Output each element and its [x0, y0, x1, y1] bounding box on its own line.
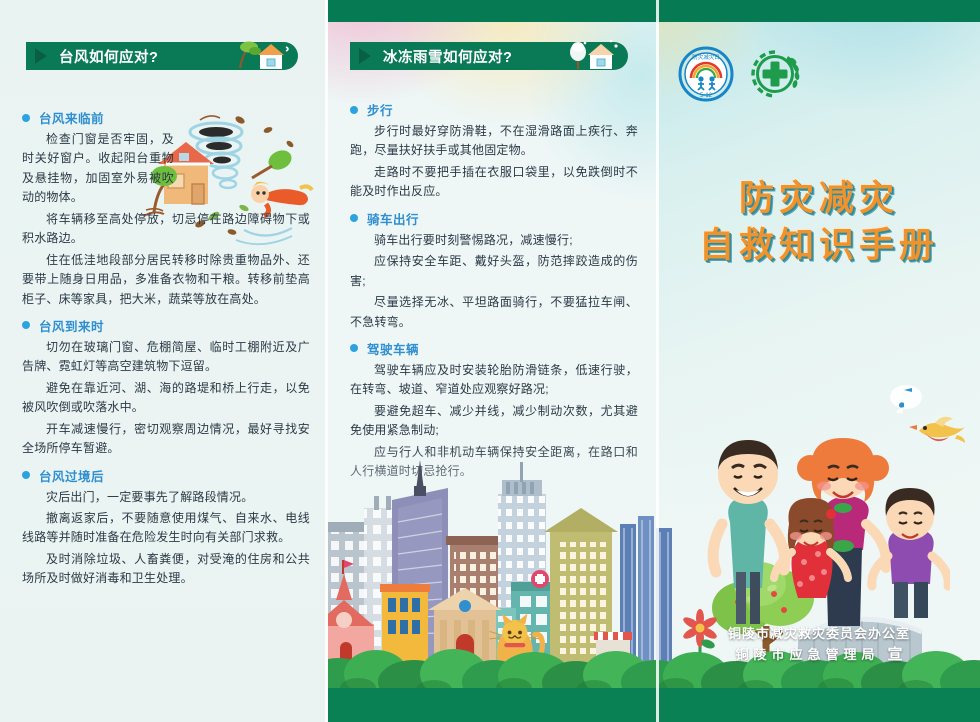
left-section-ribbon: 台风如何应对?	[26, 42, 298, 70]
bullet-dot-icon	[22, 321, 30, 329]
credit-line-2: 铜陵市应急管理局	[735, 647, 879, 662]
middle-section-0: 步行 步行时最好穿防滑鞋，不在湿滑路面上疾行、奔跑，尽量扶好扶手或其他固定物。 …	[350, 100, 638, 202]
ribbon-arrow-icon	[35, 48, 47, 64]
left-section-0: 台风来临前 检查门窗是否牢固，及时关好窗户。收起阳台重物及悬挂物，加固室外易被吹…	[22, 108, 310, 309]
logo-group: 5·12 防灾减灾日	[678, 46, 818, 102]
left-section-0-para-1: 将车辆移至高处停放，切忌停在路边障碍物下或积水路边。	[22, 210, 310, 249]
left-section-0-heading: 台风来临前	[39, 108, 104, 127]
bullet-dot-icon	[350, 106, 358, 114]
middle-section-ribbon: 冰冻雨雪如何应对?	[350, 42, 628, 70]
left-section-2-para-1: 撤离返家后，不要随意使用煤气、自来水、电线线路等并随时准备在危险发生时向有关部门…	[22, 509, 310, 548]
left-section-1-heading-row: 台风到来时	[22, 316, 310, 335]
music-note-bubble-icon	[888, 382, 924, 416]
credit-suffix: 宣	[888, 646, 903, 663]
svg-text:5·12: 5·12	[700, 93, 713, 99]
middle-section-0-para-1: 走路时不要把手插在衣服口袋里，以免跌倒时不能及时作出反应。	[350, 163, 638, 202]
middle-section-0-heading: 步行	[367, 100, 393, 119]
left-section-2-heading-row: 台风过境后	[22, 466, 310, 485]
middle-section-2-heading: 驾驶车辆	[367, 339, 419, 358]
svg-text:防灾减灾日: 防灾减灾日	[692, 53, 720, 61]
snow-house-tree-icon	[564, 38, 620, 72]
brochure-page: 台风如何应对?	[0, 0, 980, 722]
credit-line-1: 铜陵市减灾救灾委员会办公室	[658, 625, 980, 644]
left-section-1: 台风到来时 切勿在玻璃门窗、危棚简屋、临时工棚附近及广告牌、霓虹灯等高空建筑物下…	[22, 316, 310, 459]
left-section-2-heading: 台风过境后	[39, 466, 104, 485]
left-section-2-para-2: 及时消除垃圾、人畜粪便，对受淹的住房和公共场所及时做好消毒和卫生处理。	[22, 550, 310, 589]
cover-title: 防灾减灾 自救知识手册	[658, 176, 980, 269]
middle-ribbon-title: 冰冻雨雪如何应对?	[383, 46, 512, 67]
middle-section-1-para-2: 尽量选择无冰、平坦路面骑行，不要猛拉车闸、不急转弯。	[350, 293, 638, 332]
left-section-1-para-2: 开车减速慢行，密切观察周边情况，最好寻找安全场所停车暂避。	[22, 420, 310, 459]
left-ribbon-title: 台风如何应对?	[59, 46, 158, 67]
middle-section-1-para-0: 骑车出行要时刻警惕路况，减速慢行;	[350, 231, 638, 250]
left-section-1-para-1: 避免在靠近河、湖、海的路堤和桥上行走，以免被风吹倒或吹落水中。	[22, 379, 310, 418]
middle-section-2-para-0: 驾驶车辆应及时安装轮胎防滑链条，低速行驶，在转弯、坡道、窄道处应观察好路况;	[350, 361, 638, 400]
panel-left: 台风如何应对?	[0, 0, 328, 722]
panel-gutter-2	[656, 0, 659, 722]
ribbon-arrow-icon	[359, 48, 371, 64]
middle-section-1-heading-row: 骑车出行	[350, 209, 638, 228]
bullet-dot-icon	[22, 471, 30, 479]
left-content: 台风来临前 检查门窗是否牢固，及时关好窗户。收起阳台重物及悬挂物，加固室外易被吹…	[22, 108, 310, 596]
bullet-dot-icon	[350, 214, 358, 222]
left-section-1-heading: 台风到来时	[39, 316, 104, 335]
middle-section-1-heading: 骑车出行	[367, 209, 419, 228]
left-section-0-para-0: 检查门窗是否牢固，及时关好窗户。收起阳台重物及悬挂物，加固室外易被吹动的物体。	[22, 130, 174, 208]
middle-section-2-heading-row: 驾驶车辆	[350, 339, 638, 358]
publisher-credit: 铜陵市减灾救灾委员会办公室 铜陵市应急管理局宣	[658, 625, 980, 666]
middle-section-2-para-1: 要避免超车、减少并线，减少制动次数，尤其避免使用紧急制动;	[350, 402, 638, 441]
top-green-band	[328, 0, 980, 22]
left-section-0-para-2: 住在低洼地段部分居民转移时除贵重物品外、还要带上随身日用品，多准备衣物和干粮。转…	[22, 251, 310, 309]
middle-section-1: 骑车出行 骑车出行要时刻警惕路况，减速慢行; 应保持安全车距、戴好头盔，防范摔跤…	[350, 209, 638, 332]
middle-section-0-para-0: 步行时最好穿防滑鞋，不在湿滑路面上疾行、奔跑，尽量扶好扶手或其他固定物。	[350, 122, 638, 161]
disaster-prevention-day-logo: 5·12 防灾减灾日	[678, 46, 734, 102]
house-tree-wind-icon	[234, 38, 290, 72]
panel-gutter-1	[325, 0, 328, 722]
ground-band	[328, 688, 980, 722]
middle-content: 步行 步行时最好穿防滑鞋，不在湿滑路面上疾行、奔跑，尽量扶好扶手或其他固定物。 …	[350, 100, 638, 489]
middle-section-0-heading-row: 步行	[350, 100, 638, 119]
bullet-dot-icon	[22, 114, 30, 122]
left-section-0-heading-row: 台风来临前	[22, 108, 310, 127]
bullet-dot-icon	[350, 344, 358, 352]
middle-section-1-para-1: 应保持安全车距、戴好头盔，防范摔跤造成的伤害;	[350, 252, 638, 291]
cover-title-line1: 防灾减灾	[658, 176, 980, 223]
credit-line-2-row: 铜陵市应急管理局宣	[658, 644, 980, 666]
cover-title-line2: 自救知识手册	[658, 223, 980, 270]
left-section-2-para-0: 灾后出门，一定要事先了解路段情况。	[22, 488, 310, 507]
left-section-1-para-0: 切勿在玻璃门窗、危棚简屋、临时工棚附近及广告牌、霓虹灯等高空建筑物下逗留。	[22, 338, 310, 377]
emergency-management-logo	[748, 47, 802, 101]
left-section-2: 台风过境后 灾后出门，一定要事先了解路段情况。 撤离返家后，不要随意使用煤气、自…	[22, 466, 310, 589]
